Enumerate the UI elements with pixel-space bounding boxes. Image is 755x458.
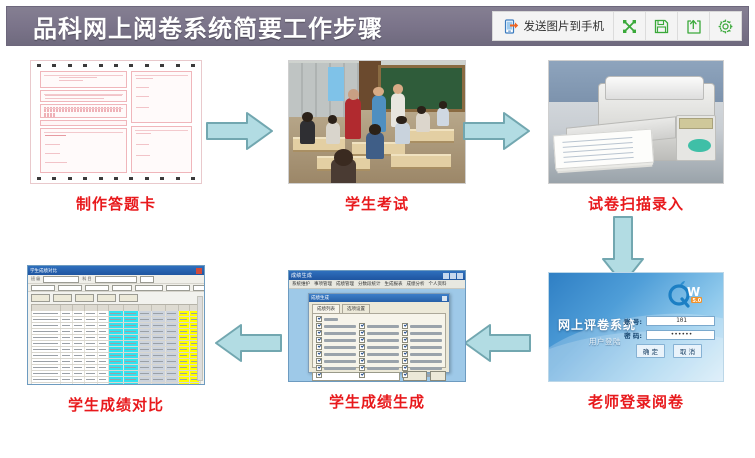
step-4[interactable]: W 5.0 网上评卷系统 用户登陆 账 号: 101 密 码: •••••• — [530, 272, 742, 412]
checkbox-item[interactable] — [402, 323, 442, 329]
checkbox-item[interactable] — [316, 344, 356, 350]
score-generation-dialog-thumbnail: 成绩生成 系统维护 事项管理 成绩管理 分数段统计 生成报表 成绩分析 个人资料… — [282, 270, 472, 382]
checkbox-item[interactable] — [359, 358, 399, 364]
close-icon[interactable] — [196, 268, 202, 274]
menu-item-2[interactable]: 成绩管理 — [336, 281, 354, 287]
checkbox-select-all[interactable] — [316, 316, 442, 322]
checkbox-item[interactable] — [316, 358, 356, 364]
account-row: 账 号: 101 — [623, 316, 715, 326]
step-6[interactable]: 学生成绩对比 班 级 科 目 — [16, 265, 216, 415]
login-cancel-button[interactable]: 取 消 — [673, 344, 702, 358]
answer-sheet-thumbnail — [16, 60, 216, 184]
grid-button-5[interactable] — [119, 294, 138, 302]
arrow-step5-to-step6 — [213, 322, 283, 364]
gear-icon — [717, 18, 734, 35]
checkbox-item[interactable] — [316, 351, 356, 357]
fullscreen-button[interactable] — [614, 12, 646, 40]
step-3-caption: 试卷扫描录入 — [530, 193, 742, 214]
checkbox-item[interactable] — [316, 365, 356, 371]
step-1-caption: 制作答题卡 — [16, 193, 216, 214]
checkbox-item[interactable] — [359, 337, 399, 343]
exit-button[interactable] — [430, 371, 446, 381]
tab-options[interactable]: 选项设置 — [342, 304, 370, 313]
score-generation-dialog: 成绩生成 成绩列表 选项设置 — [308, 293, 450, 373]
grid-window-title: 学生成绩对比 — [30, 268, 57, 274]
send-to-phone-icon — [502, 18, 519, 35]
menu-item-0[interactable]: 系统维护 — [292, 281, 310, 287]
save-button[interactable] — [646, 12, 678, 40]
classroom-exam-photo — [282, 60, 472, 184]
menu-item-1[interactable]: 事项管理 — [314, 281, 332, 287]
step-1[interactable]: 制作答题卡 — [16, 60, 216, 214]
menu-item-3[interactable]: 分数段统计 — [358, 281, 381, 287]
checkbox-item[interactable] — [359, 351, 399, 357]
account-label: 账 号: — [623, 316, 643, 326]
checkbox-item[interactable] — [359, 344, 399, 350]
product-logo-icon: W 5.0 — [667, 279, 705, 313]
checkbox-item[interactable] — [402, 351, 442, 357]
password-label: 密 码: — [623, 330, 643, 340]
account-input[interactable]: 101 — [646, 316, 715, 326]
send-to-phone-button[interactable]: 发送图片到手机 — [493, 12, 615, 40]
checkbox-item[interactable] — [402, 337, 442, 343]
table-header-row — [31, 304, 201, 311]
score-table[interactable] — [28, 304, 204, 385]
checkbox-item[interactable] — [402, 344, 442, 350]
step-4-caption: 老师登录阅卷 — [530, 391, 742, 412]
grid-button-1[interactable] — [31, 294, 50, 302]
checkbox-item[interactable] — [402, 330, 442, 336]
checkbox-item[interactable] — [359, 330, 399, 336]
scanner-photo — [530, 60, 742, 184]
step-5[interactable]: 成绩生成 系统维护 事项管理 成绩管理 分数段统计 生成报表 成绩分析 个人资料… — [282, 270, 472, 412]
score-comparison-grid-thumbnail: 学生成绩对比 班 级 科 目 — [16, 265, 216, 385]
svg-text:W: W — [687, 285, 700, 299]
login-screen-thumbnail: W 5.0 网上评卷系统 用户登陆 账 号: 101 密 码: •••••• — [530, 272, 742, 382]
arrow-step4-to-step5 — [462, 322, 532, 364]
close-icon[interactable] — [442, 296, 447, 301]
step-2-caption: 学生考试 — [282, 193, 472, 214]
tab-score-list[interactable]: 成绩列表 — [312, 304, 340, 313]
step-3[interactable]: 试卷扫描录入 — [530, 60, 742, 214]
sheet-timing-marks-top — [37, 64, 195, 67]
path-input[interactable] — [312, 372, 400, 381]
dialog-menubar[interactable]: 系统维护 事项管理 成绩管理 分数段统计 生成报表 成绩分析 个人资料 — [289, 280, 465, 289]
checkbox-item[interactable] — [359, 323, 399, 329]
share-button[interactable] — [678, 12, 710, 40]
vertical-scrollbar[interactable] — [197, 296, 203, 381]
step-5-caption: 学生成绩生成 — [282, 391, 472, 412]
password-row: 密 码: •••••• — [623, 330, 715, 340]
share-icon — [685, 18, 702, 35]
page-title: 品科网上阅卷系统简要工作步骤 — [33, 9, 383, 44]
arrow-step1-to-step2 — [205, 110, 275, 152]
arrow-step2-to-step3 — [462, 110, 532, 152]
step-6-caption: 学生成绩对比 — [16, 394, 216, 415]
menu-item-5[interactable]: 成绩分析 — [407, 281, 425, 287]
inner-dialog-title: 成绩生成 — [311, 295, 329, 301]
menu-item-6[interactable]: 个人资料 — [429, 281, 447, 287]
toolbar: 发送图片到手机 — [492, 11, 743, 41]
table-row[interactable] — [31, 383, 201, 385]
login-confirm-button[interactable]: 确 定 — [636, 344, 665, 358]
login-form: 账 号: 101 密 码: •••••• 确 定 取 消 — [623, 316, 715, 358]
checkbox-item[interactable] — [402, 358, 442, 364]
login-subtitle: 用户登陆 — [589, 336, 621, 347]
checkbox-item[interactable] — [359, 365, 399, 371]
settings-button[interactable] — [710, 12, 741, 40]
svg-text:5.0: 5.0 — [692, 298, 701, 304]
send-to-phone-label: 发送图片到手机 — [524, 18, 605, 34]
dialog-window-title: 成绩生成 — [291, 272, 312, 279]
checkbox-panel — [312, 313, 446, 368]
sheet-timing-marks-bottom — [37, 177, 195, 180]
grid-button-3[interactable] — [75, 294, 94, 302]
menu-item-4[interactable]: 生成报表 — [385, 281, 403, 287]
header-bar: 品科网上阅卷系统简要工作步骤 发送图片到手机 — [6, 6, 749, 46]
checkbox-item[interactable] — [316, 337, 356, 343]
checkbox-item[interactable] — [316, 330, 356, 336]
checkbox-item[interactable] — [316, 323, 356, 329]
step-2[interactable]: 学生考试 — [282, 60, 472, 214]
grid-button-4[interactable] — [97, 294, 116, 302]
fullscreen-icon — [621, 18, 638, 35]
password-input[interactable]: •••••• — [646, 330, 715, 340]
grid-button-2[interactable] — [53, 294, 72, 302]
save-icon — [653, 18, 670, 35]
workflow-diagram: 制作答题卡 — [0, 50, 755, 450]
